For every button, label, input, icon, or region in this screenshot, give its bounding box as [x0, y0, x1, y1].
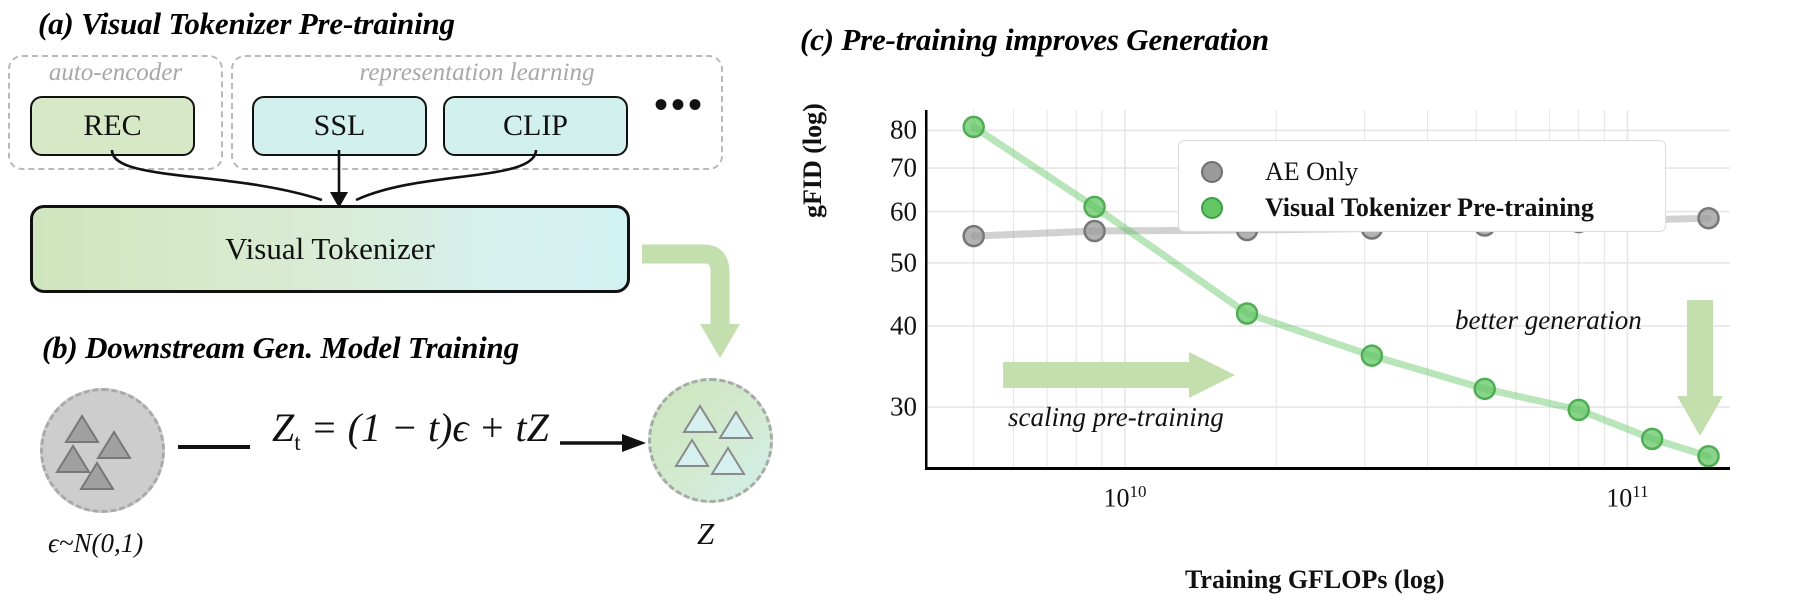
formula-rhs: = (1 − t)ϵ + tZ [301, 405, 549, 450]
rec-box[interactable]: REC [30, 96, 195, 156]
chart-y-tick: 30 [857, 392, 917, 423]
legend-dot-visual-tokenizer [1201, 197, 1223, 219]
legend-dot-ae-only [1201, 161, 1223, 183]
annotation-scaling-pre-training: scaling pre-training [1008, 402, 1224, 433]
legend-item-visual-tokenizer: Visual Tokenizer Pre-training [1201, 193, 1594, 223]
auto-encoder-group-label: auto-encoder [10, 59, 221, 87]
chart-y-tick: 50 [857, 247, 917, 278]
latent-label: Z [697, 516, 714, 552]
clip-box[interactable]: CLIP [443, 96, 628, 156]
connector-line [178, 445, 250, 449]
panel-a-title: (a) Visual Tokenizer Pre-training [38, 6, 455, 42]
chart-y-tick: 60 [857, 196, 917, 227]
scaling-arrow-icon [1003, 352, 1243, 398]
tokenizer-to-latent-arrow-icon [630, 240, 760, 390]
noise-label: ϵ~N(0,1) [48, 528, 143, 559]
right-arrow-icon [560, 428, 648, 458]
ellipsis-dots: ••• [654, 85, 705, 125]
annotation-better-generation: better generation [1455, 305, 1642, 336]
chart-y-tick: 70 [857, 153, 917, 184]
representation-learning-group-label: representation learning [233, 59, 721, 87]
better-generation-arrow-icon [1675, 300, 1725, 440]
legend-label-ae-only: AE Only [1265, 157, 1358, 187]
legend-label-visual-tokenizer: Visual Tokenizer Pre-training [1265, 193, 1594, 223]
latent-distribution-blob [648, 378, 773, 503]
visual-tokenizer-box[interactable]: Visual Tokenizer [30, 205, 630, 293]
legend-item-ae-only: AE Only [1201, 157, 1358, 187]
panel-c-title: (c) Pre-training improves Generation [800, 22, 1269, 58]
flow-matching-formula: Zt = (1 − t)ϵ + tZ [272, 404, 549, 456]
formula-lhs: Z [272, 405, 294, 450]
chart-y-tick: 80 [857, 115, 917, 146]
noise-distribution-blob [40, 388, 165, 513]
panel-b-title: (b) Downstream Gen. Model Training [42, 330, 519, 366]
chart-y-tick: 40 [857, 310, 917, 341]
chart-y-axis-label: gFID (log) [798, 103, 828, 218]
chart-x-tick: 1010 [1103, 482, 1146, 514]
chart-x-tick: 1011 [1606, 482, 1648, 514]
chart-x-axis-label: Training GFLOPs (log) [1185, 565, 1445, 595]
chart-legend: AE Only Visual Tokenizer Pre-training [1178, 140, 1666, 232]
ssl-box[interactable]: SSL [252, 96, 427, 156]
